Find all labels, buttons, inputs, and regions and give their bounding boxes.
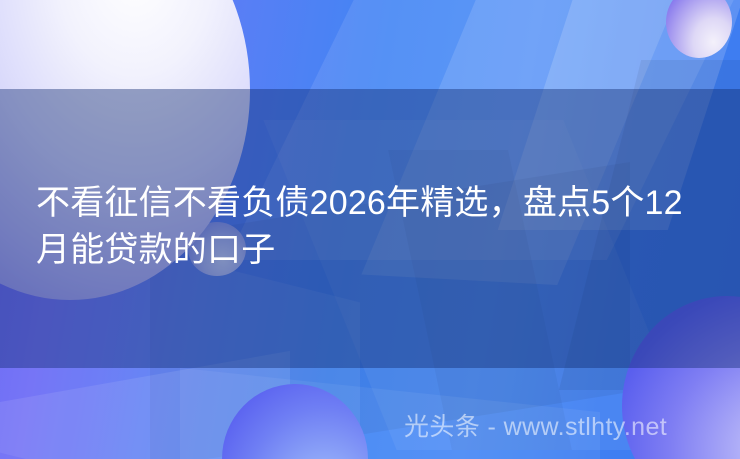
banner-canvas: 不看征信不看负债2026年精选，盘点5个12月能贷款的口子 光头条 - www.… [0, 0, 740, 459]
banner-title: 不看征信不看负债2026年精选，盘点5个12月能贷款的口子 [36, 180, 712, 274]
site-watermark: 光头条 - www.stlhty.net [404, 411, 667, 443]
